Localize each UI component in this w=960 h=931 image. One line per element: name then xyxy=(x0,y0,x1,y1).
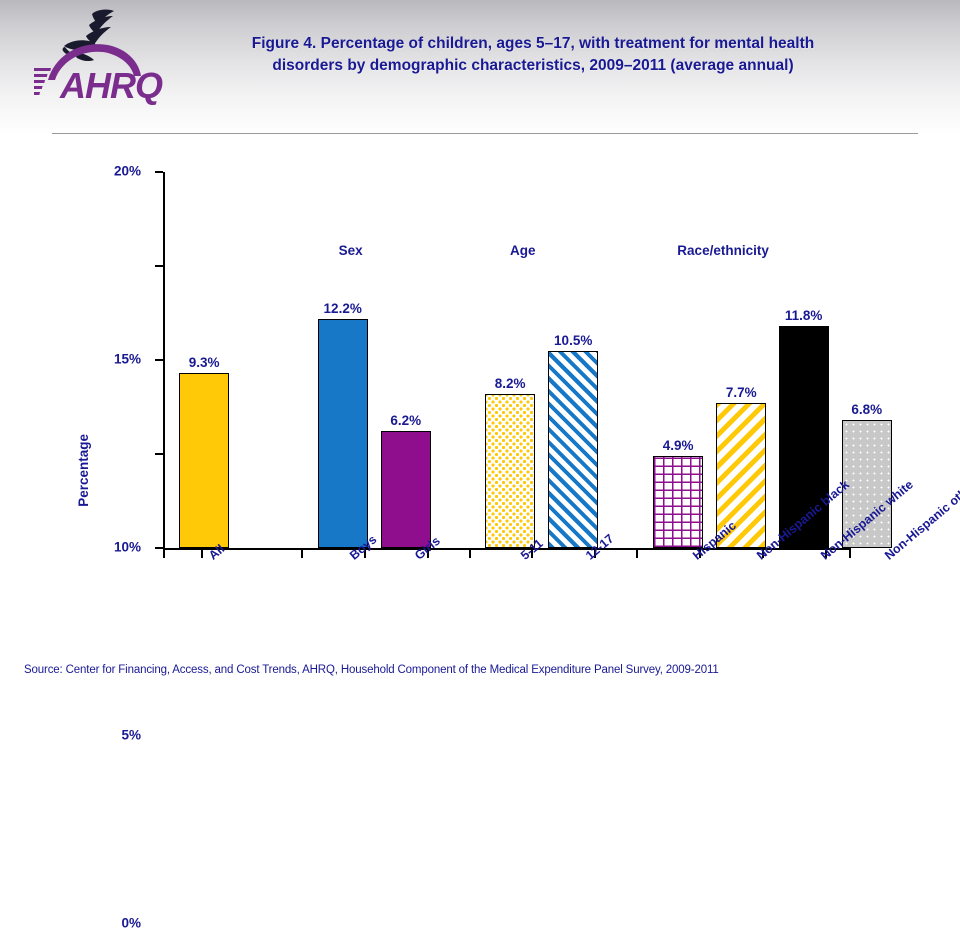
bar-hispanic[interactable]: 4.9% xyxy=(653,456,703,548)
y-axis-tick-label: 15% xyxy=(114,352,141,367)
bar-value-label: 12.2% xyxy=(324,301,362,316)
bar-value-label: 6.2% xyxy=(390,413,421,428)
y-axis-tick: 20% xyxy=(155,171,163,173)
bar-value-label: 9.3% xyxy=(189,355,220,370)
chart-area: Percentage 0%5%10%15%20% SexAgeRace/ethn… xyxy=(0,134,960,664)
source-note: Source: Center for Financing, Access, an… xyxy=(24,664,719,676)
ahrq-logo-icon: AHRQ xyxy=(34,8,164,108)
group-header-sex: Sex xyxy=(339,243,363,258)
bar-value-label: 8.2% xyxy=(495,376,526,391)
y-axis-tick-label: 10% xyxy=(114,540,141,555)
y-axis-tick-label: 5% xyxy=(121,728,141,743)
page-header: AHRQ Figure 4. Percentage of children, a… xyxy=(0,0,960,134)
bar-5-11[interactable]: 8.2% xyxy=(485,394,535,548)
y-axis-tick: 15% xyxy=(155,265,163,267)
x-axis-line xyxy=(163,548,851,550)
y-axis-tick: 0% xyxy=(155,547,163,549)
y-axis-tick: 5% xyxy=(155,453,163,455)
x-axis-category-labels: AllBoysGirls5-1112-17HispanicNon-Hispani… xyxy=(164,552,864,662)
y-axis-title: Percentage xyxy=(76,434,91,507)
y-axis-line xyxy=(163,172,165,549)
bar-value-label: 7.7% xyxy=(726,385,757,400)
bar-all[interactable]: 9.3% xyxy=(179,373,229,548)
figure-title: Figure 4. Percentage of children, ages 5… xyxy=(238,33,828,77)
ahrq-logo: AHRQ xyxy=(34,8,164,108)
y-axis-tick-label: 0% xyxy=(121,916,141,931)
bar-value-label: 11.8% xyxy=(785,308,823,323)
bar-value-label: 6.8% xyxy=(851,402,882,417)
y-axis-tick: 10% xyxy=(155,359,163,361)
bar-girls[interactable]: 6.2% xyxy=(381,431,431,548)
group-header-age: Age xyxy=(510,243,536,258)
y-axis-tick-label: 20% xyxy=(114,164,141,179)
plot-area: 0%5%10%15%20% SexAgeRace/ethnicity 9.3%1… xyxy=(164,172,850,548)
bar-value-label: 4.9% xyxy=(663,438,694,453)
bar-12-17[interactable]: 10.5% xyxy=(548,351,598,548)
bar-value-label: 10.5% xyxy=(554,333,592,348)
group-header-race-ethnicity: Race/ethnicity xyxy=(677,243,769,258)
svg-text:AHRQ: AHRQ xyxy=(59,65,163,106)
bar-boys[interactable]: 12.2% xyxy=(318,319,368,548)
